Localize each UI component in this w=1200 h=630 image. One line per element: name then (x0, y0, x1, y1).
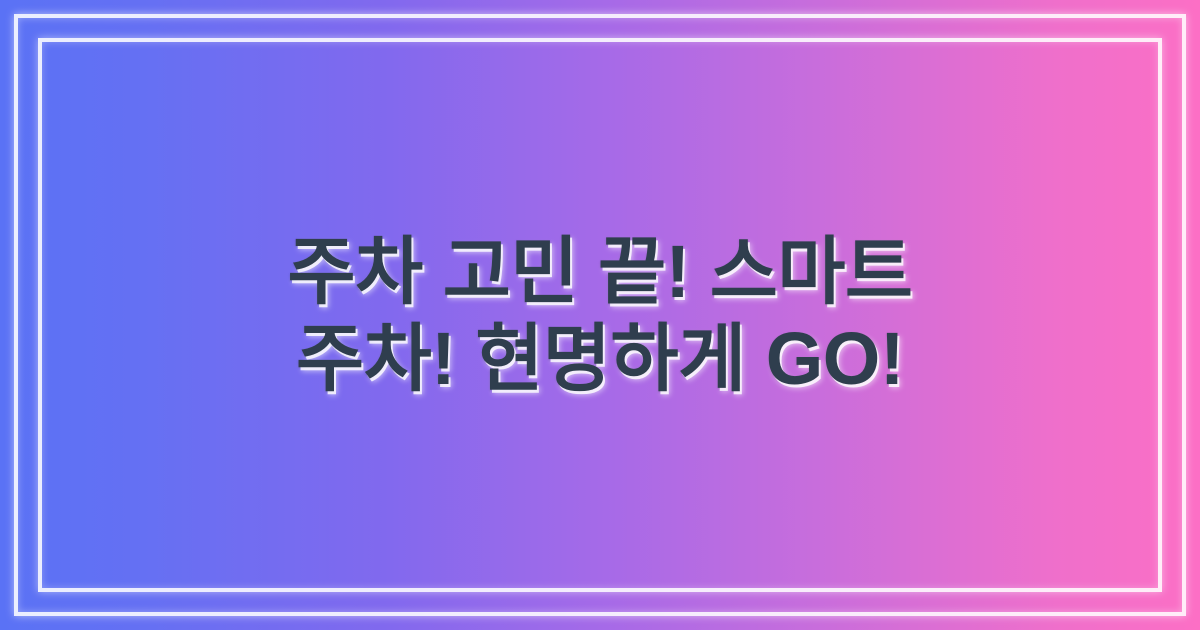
card-content: 주차 고민 끝! 스마트 주차! 현명하게 GO! (0, 0, 1200, 630)
headline-title: 주차 고민 끝! 스마트 주차! 현명하게 GO! (250, 228, 950, 403)
social-card: 주차 고민 끝! 스마트 주차! 현명하게 GO! (0, 0, 1200, 630)
